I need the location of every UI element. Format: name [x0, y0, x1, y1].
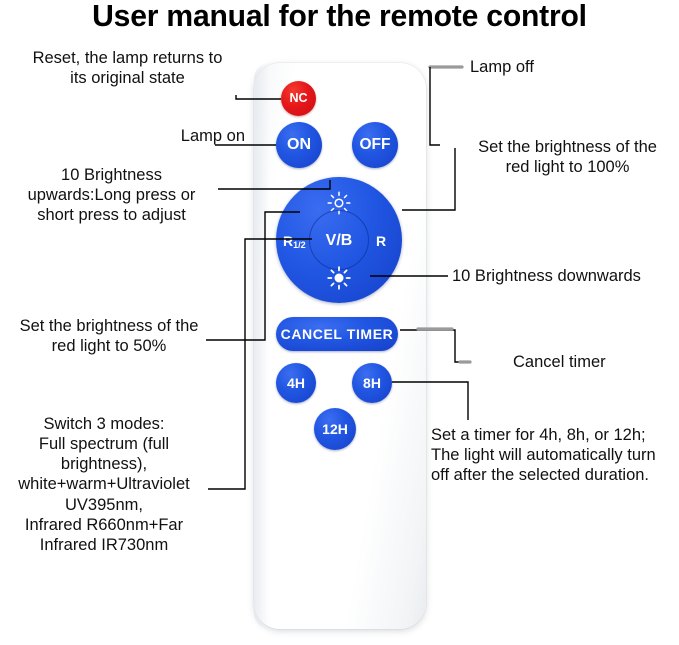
callout-red-50: Set the brightness of the red light to 5…	[4, 316, 214, 356]
callout-lamp-off: Lamp off	[470, 57, 675, 77]
manual-page: User manual for the remote control NC ON…	[0, 0, 679, 645]
callout-brightness-down: 10 Brightness downwards	[452, 266, 677, 286]
page-title: User manual for the remote control	[10, 0, 669, 34]
timer-8h-button[interactable]: 8H	[352, 363, 392, 403]
dpad-label-r[interactable]: R	[376, 234, 386, 248]
body-highlight	[254, 63, 270, 629]
on-button[interactable]: ON	[276, 122, 322, 168]
callout-reset: Reset, the lamp returns to its original …	[10, 48, 245, 88]
callout-set-timer: Set a timer for 4h, 8h, or 12h; The ligh…	[431, 425, 675, 485]
timer-12h-button[interactable]: 12H	[314, 408, 356, 450]
callout-brightness-up: 10 Brightness upwards:Long press or shor…	[4, 165, 219, 225]
callout-lamp-on: Lamp on	[10, 126, 245, 146]
nc-reset-button[interactable]: NC	[281, 81, 316, 116]
cancel-timer-button[interactable]: CANCEL TIMER	[276, 317, 398, 351]
timer-4h-button[interactable]: 4H	[276, 363, 316, 403]
callout-modes: Switch 3 modes: Full spectrum (full brig…	[0, 414, 208, 555]
direction-pad[interactable]: R1/2 V/B R	[276, 177, 402, 303]
callout-cancel-timer: Cancel timer	[513, 352, 673, 372]
sun-brightness-down-icon[interactable]	[326, 265, 352, 291]
callout-red-100: Set the brightness of the red light to 1…	[460, 137, 675, 177]
leader-lamp-off	[430, 67, 440, 145]
off-button[interactable]: OFF	[352, 122, 398, 168]
